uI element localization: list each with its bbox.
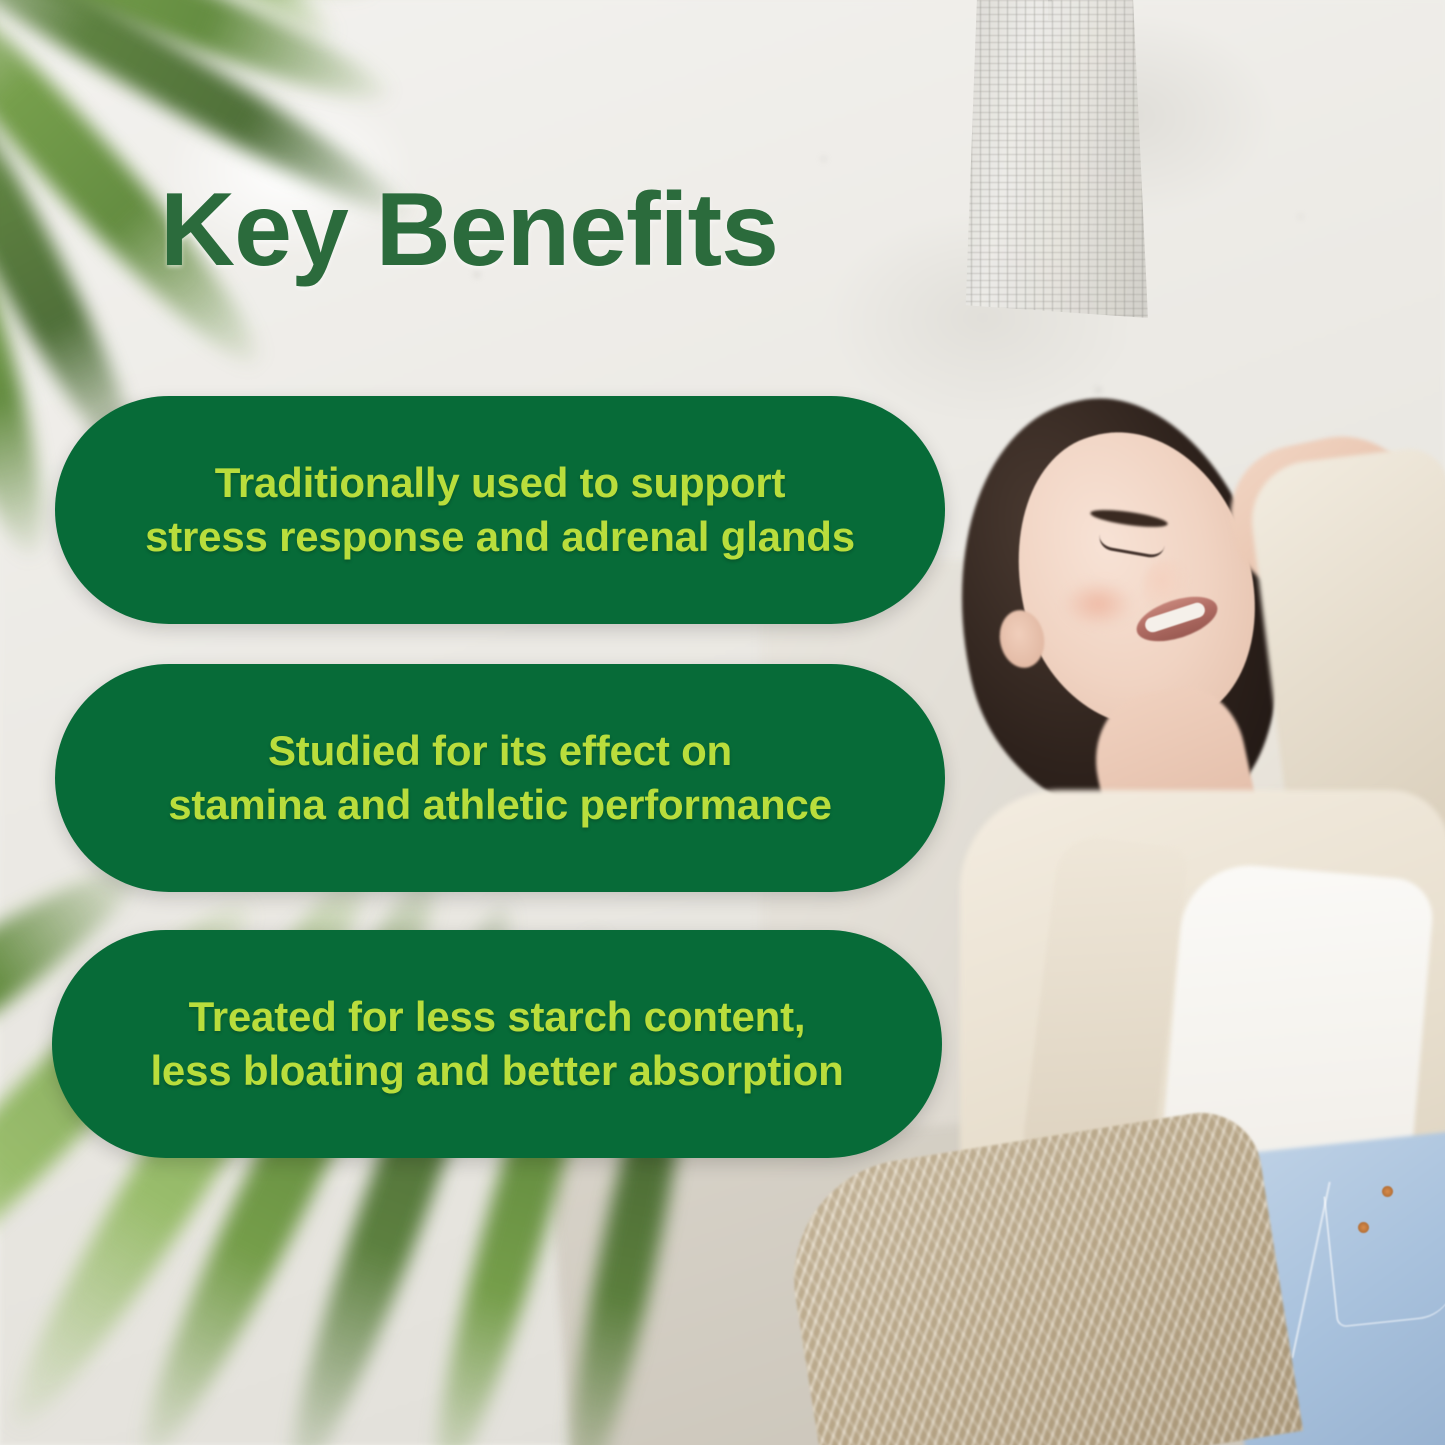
denim-rivet <box>1358 1222 1369 1233</box>
pendant-lamp-weave-texture <box>962 0 1148 318</box>
benefit-pill-1-text: Traditionally used to support stress res… <box>145 456 855 564</box>
benefit-pill-2-text: Studied for its effect on stamina and at… <box>168 724 831 832</box>
key-benefits-graphic: Key Benefits Traditionally used to suppo… <box>0 0 1445 1445</box>
benefit-pill-2: Studied for its effect on stamina and at… <box>55 664 945 892</box>
denim-rivet <box>1382 1186 1393 1197</box>
page-title: Key Benefits <box>160 178 778 282</box>
denim-pocket <box>1323 1184 1445 1328</box>
benefit-pill-3-text: Treated for less starch content, less bl… <box>150 990 843 1098</box>
benefit-pill-1: Traditionally used to support stress res… <box>55 396 945 624</box>
benefit-pill-3: Treated for less starch content, less bl… <box>52 930 942 1158</box>
woman-cheek <box>1062 580 1134 628</box>
